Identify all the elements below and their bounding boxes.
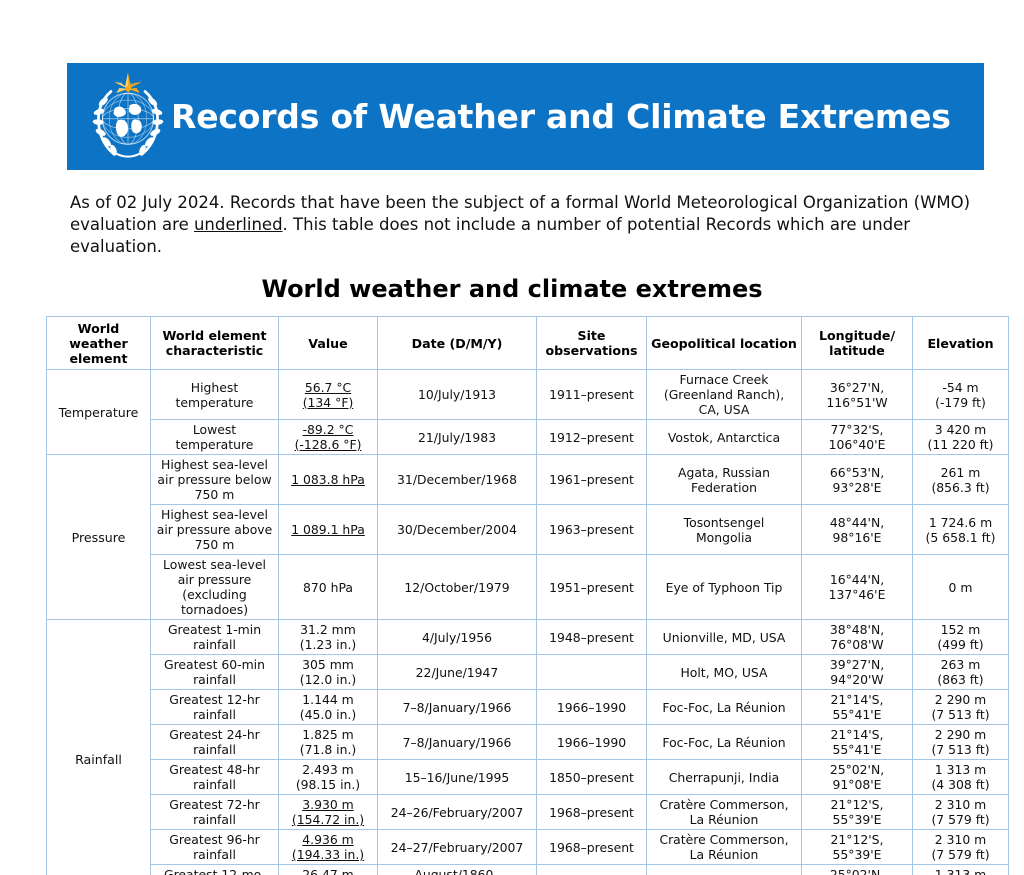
intro-paragraph: As of 02 July 2024. Records that have be… [70,192,995,258]
cell-geopolitical-location: Cherrapunji, India [647,865,802,875]
cell-geopolitical-location: Furnace Creek(Greenland Ranch),CA, USA [647,370,802,420]
cell-line: 93°28'E [805,480,909,495]
cell-line: Federation [650,480,798,495]
cell-line: 56.7 °C [282,380,374,395]
cell-longitude-latitude: 48°44'N,98°16'E [802,505,913,555]
cell-line: 263 m [916,657,1005,672]
document-page: Records of Weather and Climate Extremes … [0,0,1024,875]
cell-line: 77°32'S, [805,422,909,437]
group-label-temperature: Temperature [47,370,151,455]
cell-line: 3 420 m [916,422,1005,437]
cell-value: 3.930 m(154.72 in.) [279,795,378,830]
cell-line: 2.493 m [282,762,374,777]
cell-line: -54 m [916,380,1005,395]
cell-site-observations: 1961–present [537,455,647,505]
cell-line: (-179 ft) [916,395,1005,410]
cell-characteristic: Greatest 12-mo. rainfall [151,865,279,875]
cell-line: Cratère Commerson, [650,797,798,812]
cell-line: 1 313 m [916,867,1005,875]
table-row: Greatest 12-hr rainfall1.144 m(45.0 in.)… [47,690,1009,725]
group-label-pressure: Pressure [47,455,151,620]
table-row: Greatest 60-min rainfall305 mm(12.0 in.)… [47,655,1009,690]
cell-line: 25°02'N, [805,762,909,777]
cell-site-observations: 1963–present [537,505,647,555]
cell-line: (5 658.1 ft) [916,530,1005,545]
table-row: Greatest 24-hr rainfall1.825 m(71.8 in.)… [47,725,1009,760]
cell-line: (1.23 in.) [282,637,374,652]
cell-elevation: 152 m(499 ft) [913,620,1009,655]
cell-geopolitical-location: Cratère Commerson,La Réunion [647,830,802,865]
cell-line: (7 513 ft) [916,742,1005,757]
cell-elevation: -54 m(-179 ft) [913,370,1009,420]
column-header-world-element-characteristic: World element characteristic [151,317,279,370]
cell-line: (7 579 ft) [916,812,1005,827]
cell-line: 21°14'S, [805,692,909,707]
cell-site-observations: 1912–present [537,420,647,455]
cell-elevation: 261 m(856.3 ft) [913,455,1009,505]
cell-characteristic: Highest temperature [151,370,279,420]
cell-line: 55°39'E [805,847,909,862]
cell-longitude-latitude: 36°27'N,116°51'W [802,370,913,420]
cell-elevation: 2 310 m(7 579 ft) [913,830,1009,865]
cell-characteristic: Greatest 48-hr rainfall [151,760,279,795]
cell-line: Vostok, Antarctica [650,430,798,445]
column-header-geopolitical-location: Geopolitical location [647,317,802,370]
cell-line: Foc-Foc, La Réunion [650,700,798,715]
cell-line: Foc-Foc, La Réunion [650,735,798,750]
table-body: TemperatureHighest temperature56.7 °C(13… [47,370,1009,875]
cell-line: 2 290 m [916,727,1005,742]
cell-line: 137°46'E [805,587,909,602]
cell-geopolitical-location: Cherrapunji, India [647,760,802,795]
cell-longitude-latitude: 25°02'N,91°08'E [802,760,913,795]
cell-site-observations: 1911–present [537,370,647,420]
cell-value: 305 mm(12.0 in.) [279,655,378,690]
cell-line: 2 310 m [916,797,1005,812]
cell-line: 55°39'E [805,812,909,827]
table-row: Lowest sea-level air pressure (excluding… [47,555,1009,620]
cell-line: 55°41'E [805,707,909,722]
cell-line: -89.2 °C [282,422,374,437]
table-row: PressureHighest sea-level air pressure b… [47,455,1009,505]
cell-line: 66°53'N, [805,465,909,480]
cell-line: Holt, MO, USA [650,665,798,680]
cell-date: 30/December/2004 [378,505,537,555]
cell-line: 0 m [916,580,1005,595]
cell-line: 152 m [916,622,1005,637]
cell-line: (Greenland Ranch), [650,387,798,402]
cell-geopolitical-location: Foc-Foc, La Réunion [647,690,802,725]
cell-value: -89.2 °C(-128.6 °F) [279,420,378,455]
cell-elevation: 1 724.6 m(5 658.1 ft) [913,505,1009,555]
column-header-date: Date (D/M/Y) [378,317,537,370]
cell-date: 24–26/February/2007 [378,795,537,830]
cell-line: 21°12'S, [805,832,909,847]
cell-geopolitical-location: Holt, MO, USA [647,655,802,690]
cell-line: (499 ft) [916,637,1005,652]
cell-date: 15–16/June/1995 [378,760,537,795]
cell-line: Cratère Commerson, [650,832,798,847]
cell-characteristic: Greatest 72-hr rainfall [151,795,279,830]
cell-line: 1 089.1 hPa [282,522,374,537]
cell-value: 1.144 m(45.0 in.) [279,690,378,725]
cell-date: 7–8/January/1966 [378,725,537,760]
cell-longitude-latitude: 21°12'S,55°39'E [802,830,913,865]
cell-characteristic: Lowest temperature [151,420,279,455]
table-row: Greatest 72-hr rainfall3.930 m(154.72 in… [47,795,1009,830]
cell-line: (11 220 ft) [916,437,1005,452]
cell-line: (-128.6 °F) [282,437,374,452]
extremes-table: World weather element World element char… [46,316,1009,875]
column-header-value: Value [279,317,378,370]
cell-elevation: 1 313 m(4 308 ft) [913,760,1009,795]
cell-line: 21°14'S, [805,727,909,742]
cell-line: (194.33 in.) [282,847,374,862]
table-caption: World weather and climate extremes [0,275,1024,303]
cell-line: Eye of Typhoon Tip [650,580,798,595]
cell-line: 3.930 m [282,797,374,812]
cell-value: 1 089.1 hPa [279,505,378,555]
cell-value: 31.2 mm(1.23 in.) [279,620,378,655]
cell-line: 91°08'E [805,777,909,792]
cell-date: 31/December/1968 [378,455,537,505]
cell-geopolitical-location: Vostok, Antarctica [647,420,802,455]
cell-value: 1 083.8 hPa [279,455,378,505]
cell-date: 21/July/1983 [378,420,537,455]
cell-line: 16°44'N, [805,572,909,587]
cell-value: 1.825 m(71.8 in.) [279,725,378,760]
cell-line: (45.0 in.) [282,707,374,722]
cell-characteristic: Greatest 96-hr rainfall [151,830,279,865]
cell-longitude-latitude: 21°14'S,55°41'E [802,690,913,725]
cell-line: 305 mm [282,657,374,672]
cell-elevation: 1 313 m(4 308 ft) [913,865,1009,875]
cell-elevation: 0 m [913,555,1009,620]
cell-date: 10/July/1913 [378,370,537,420]
cell-value: 56.7 °C(134 °F) [279,370,378,420]
table-row: Lowest temperature-89.2 °C(-128.6 °F)21/… [47,420,1009,455]
cell-site-observations [537,655,647,690]
cell-site-observations: 1948–present [537,620,647,655]
cell-line: (98.15 in.) [282,777,374,792]
cell-line: August/1860– [381,867,533,875]
cell-site-observations: 1850–present [537,760,647,795]
cell-line: Furnace Creek [650,372,798,387]
cell-line: Agata, Russian [650,465,798,480]
cell-geopolitical-location: Unionville, MD, USA [647,620,802,655]
cell-elevation: 263 m(863 ft) [913,655,1009,690]
cell-line: 98°16'E [805,530,909,545]
cell-longitude-latitude: 21°12'S,55°39'E [802,795,913,830]
cell-line: 21°12'S, [805,797,909,812]
cell-elevation: 2 290 m(7 513 ft) [913,690,1009,725]
cell-site-observations: 1968–present [537,830,647,865]
cell-date: 4/July/1956 [378,620,537,655]
cell-line: (4 308 ft) [916,777,1005,792]
cell-line: 26.47 m [282,867,374,875]
cell-characteristic: Greatest 12-hr rainfall [151,690,279,725]
column-header-world-weather-element: World weather element [47,317,151,370]
group-label-rainfall: Rainfall [47,620,151,875]
wmo-globe-laurel-logo [85,71,171,163]
cell-line: Unionville, MD, USA [650,630,798,645]
cell-line: (154.72 in.) [282,812,374,827]
table-row: Greatest 48-hr rainfall2.493 m(98.15 in.… [47,760,1009,795]
cell-line: 2 310 m [916,832,1005,847]
cell-characteristic: Greatest 60-min rainfall [151,655,279,690]
cell-value: 26.47 m(1042 in.) [279,865,378,875]
cell-geopolitical-location: Foc-Foc, La Réunion [647,725,802,760]
cell-longitude-latitude: 21°14'S,55°41'E [802,725,913,760]
cell-date: 22/June/1947 [378,655,537,690]
cell-site-observations: 1851–present [537,865,647,875]
cell-line: 94°20'W [805,672,909,687]
cell-line: 31.2 mm [282,622,374,637]
cell-date: 24–27/February/2007 [378,830,537,865]
cell-line: La Réunion [650,847,798,862]
cell-line: La Réunion [650,812,798,827]
cell-geopolitical-location: Agata, RussianFederation [647,455,802,505]
cell-line: 36°27'N, [805,380,909,395]
cell-line: Cherrapunji, India [650,770,798,785]
cell-line: (134 °F) [282,395,374,410]
cell-longitude-latitude: 39°27'N,94°20'W [802,655,913,690]
cell-characteristic: Greatest 24-hr rainfall [151,725,279,760]
cell-site-observations: 1966–1990 [537,690,647,725]
cell-longitude-latitude: 38°48'N,76°08'W [802,620,913,655]
cell-characteristic: Greatest 1-min rainfall [151,620,279,655]
cell-characteristic: Highest sea-level air pressure above 750… [151,505,279,555]
table-row: Greatest 96-hr rainfall4.936 m(194.33 in… [47,830,1009,865]
cell-line: CA, USA [650,402,798,417]
compass-star-icon [114,72,141,92]
cell-line: 1 724.6 m [916,515,1005,530]
cell-line: (863 ft) [916,672,1005,687]
cell-site-observations: 1951–present [537,555,647,620]
cell-site-observations: 1966–1990 [537,725,647,760]
cell-geopolitical-location: Cratère Commerson,La Réunion [647,795,802,830]
column-header-longitude-latitude: Longitude/ latitude [802,317,913,370]
page-banner: Records of Weather and Climate Extremes [67,63,984,170]
cell-line: Tosontsengel [650,515,798,530]
cell-value: 2.493 m(98.15 in.) [279,760,378,795]
cell-line: 1 083.8 hPa [282,472,374,487]
table-row: RainfallGreatest 1-min rainfall31.2 mm(1… [47,620,1009,655]
cell-line: 48°44'N, [805,515,909,530]
extremes-table-wrapper: World weather element World element char… [46,316,1008,875]
cell-value: 4.936 m(194.33 in.) [279,830,378,865]
cell-line: (71.8 in.) [282,742,374,757]
cell-line: 2 290 m [916,692,1005,707]
cell-longitude-latitude: 16°44'N,137°46'E [802,555,913,620]
cell-line: (7 513 ft) [916,707,1005,722]
cell-value: 870 hPa [279,555,378,620]
cell-elevation: 3 420 m(11 220 ft) [913,420,1009,455]
cell-line: 1.144 m [282,692,374,707]
cell-line: Mongolia [650,530,798,545]
cell-elevation: 2 290 m(7 513 ft) [913,725,1009,760]
table-row: Highest sea-level air pressure above 750… [47,505,1009,555]
table-row: TemperatureHighest temperature56.7 °C(13… [47,370,1009,420]
column-header-site-observations: Site observations [537,317,647,370]
cell-line: 38°48'N, [805,622,909,637]
table-header-row: World weather element World element char… [47,317,1009,370]
cell-geopolitical-location: TosontsengelMongolia [647,505,802,555]
cell-line: (12.0 in.) [282,672,374,687]
cell-line: 870 hPa [282,580,374,595]
cell-site-observations: 1968–present [537,795,647,830]
cell-characteristic: Lowest sea-level air pressure (excluding… [151,555,279,620]
banner-title: Records of Weather and Climate Extremes [171,97,984,136]
cell-longitude-latitude: 25°02'N,91°08'E [802,865,913,875]
cell-line: 55°41'E [805,742,909,757]
cell-longitude-latitude: 77°32'S,106°40'E [802,420,913,455]
cell-line: 1.825 m [282,727,374,742]
cell-line: 106°40'E [805,437,909,452]
cell-characteristic: Highest sea-level air pressure below 750… [151,455,279,505]
cell-line: 76°08'W [805,637,909,652]
column-header-elevation: Elevation [913,317,1009,370]
cell-line: 4.936 m [282,832,374,847]
cell-geopolitical-location: Eye of Typhoon Tip [647,555,802,620]
cell-line: (856.3 ft) [916,480,1005,495]
cell-line: (7 579 ft) [916,847,1005,862]
cell-date: 12/October/1979 [378,555,537,620]
cell-date: 7–8/January/1966 [378,690,537,725]
cell-line: 116°51'W [805,395,909,410]
cell-line: 261 m [916,465,1005,480]
cell-line: 39°27'N, [805,657,909,672]
cell-line: 1 313 m [916,762,1005,777]
cell-longitude-latitude: 66°53'N,93°28'E [802,455,913,505]
cell-line: 25°02'N, [805,867,909,875]
table-header: World weather element World element char… [47,317,1009,370]
intro-underlined-word: underlined [194,215,283,234]
cell-elevation: 2 310 m(7 579 ft) [913,795,1009,830]
table-row: Greatest 12-mo. rainfall26.47 m(1042 in.… [47,865,1009,875]
cell-date: August/1860–July/1861 [378,865,537,875]
